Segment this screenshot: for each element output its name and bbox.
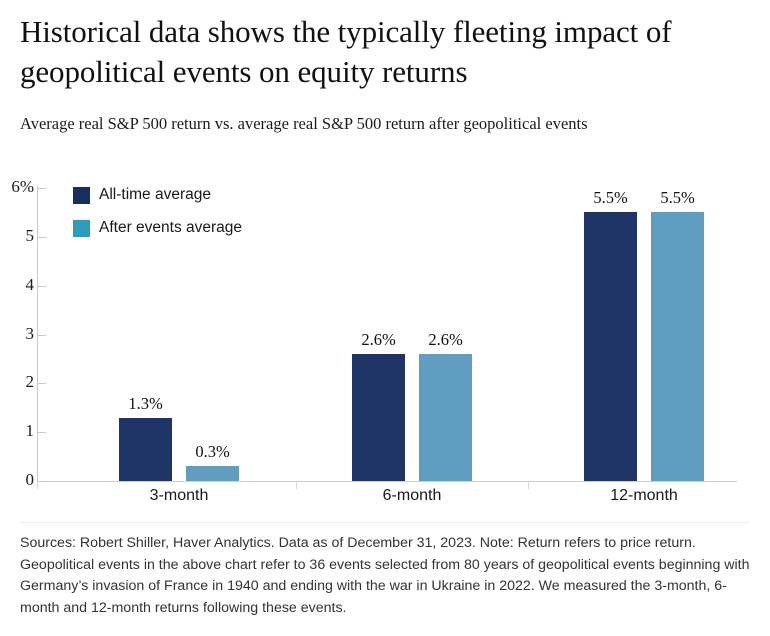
bar[interactable]	[419, 354, 472, 481]
y-axis-tick-label: 1	[0, 421, 34, 441]
bar-value-label: 5.5%	[643, 188, 713, 208]
bar-value-label: 2.6%	[344, 330, 414, 350]
footer-divider	[20, 522, 750, 523]
bar-chart: 0123456% All-time average After events a…	[0, 160, 770, 520]
page-title: Historical data shows the typically flee…	[20, 12, 760, 92]
bar[interactable]	[651, 212, 704, 481]
x-axis-category-label: 6-month	[332, 487, 492, 505]
legend-item-after-events-average[interactable]: After events average	[73, 217, 242, 239]
y-axis-tick	[37, 188, 46, 189]
x-axis-baseline	[37, 481, 737, 482]
y-axis-tick	[37, 383, 46, 384]
bar[interactable]	[584, 212, 637, 481]
chart-legend: All-time average After events average	[73, 184, 242, 250]
x-axis-separator	[528, 481, 529, 489]
chart-page: Historical data shows the typically flee…	[0, 0, 770, 636]
legend-swatch-all-time-average	[73, 187, 90, 204]
y-axis-tick	[37, 481, 46, 482]
x-axis-category-label: 12-month	[564, 487, 724, 505]
y-axis-tick	[37, 237, 46, 238]
y-axis-tick-label: 2	[0, 372, 34, 392]
y-axis-tick-label: 0	[0, 470, 34, 490]
y-axis-tick-label: 6%	[0, 177, 34, 197]
legend-label-all-time-average: All-time average	[99, 186, 211, 204]
y-axis-tick	[37, 432, 46, 433]
y-axis-tick-label: 3	[0, 324, 34, 344]
legend-item-all-time-average[interactable]: All-time average	[73, 184, 242, 206]
bar-value-label: 0.3%	[178, 442, 248, 462]
legend-label-after-events-average: After events average	[99, 219, 242, 237]
bar-value-label: 2.6%	[411, 330, 481, 350]
x-axis-category-label: 3-month	[99, 487, 259, 505]
x-axis-separator	[37, 481, 38, 489]
bar[interactable]	[186, 466, 239, 481]
y-axis-tick-label: 4	[0, 275, 34, 295]
source-note: Sources: Robert Shiller, Haver Analytics…	[20, 533, 754, 619]
x-axis-separator	[296, 481, 297, 489]
bar[interactable]	[119, 418, 172, 481]
bar-value-label: 5.5%	[576, 188, 646, 208]
legend-swatch-after-events-average	[73, 220, 90, 237]
y-axis-tick	[37, 335, 46, 336]
y-axis-tick-label: 5	[0, 226, 34, 246]
chart-subtitle: Average real S&P 500 return vs. average …	[20, 113, 760, 135]
bar-value-label: 1.3%	[111, 394, 181, 414]
y-axis-tick	[37, 286, 46, 287]
bar[interactable]	[352, 354, 405, 481]
